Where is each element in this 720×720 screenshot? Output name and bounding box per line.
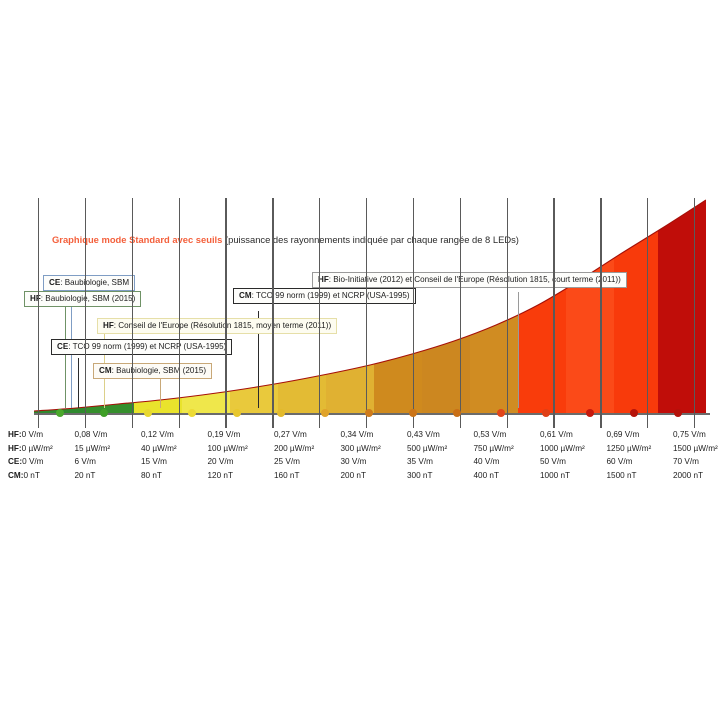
callout-hf-baubiologie[interactable]: HF: Baubiologie, SBM (2015) (24, 291, 141, 307)
gridline (132, 198, 133, 428)
table-cell-cm-flux: 2000 nT (673, 469, 718, 483)
table-cell-ce-field: 60 V/m (607, 455, 652, 469)
led-indicator (497, 409, 505, 417)
led-indicator (277, 409, 285, 417)
table-cell-cm-flux: CM:0 nT (8, 469, 53, 483)
gridline (272, 198, 273, 428)
connector-hf-bio-initiative (518, 292, 519, 408)
gridline (413, 198, 414, 428)
led-indicator (674, 409, 682, 417)
table-column: 0,34 V/m300 µW/m²30 V/m200 nT (341, 428, 381, 482)
table-cell-hf-field: 0,61 V/m (540, 428, 585, 442)
gridline (38, 198, 39, 428)
table-cell-hf-power: 1250 µW/m² (607, 442, 652, 456)
led-indicator (233, 409, 241, 417)
gridline (647, 198, 648, 428)
callout-prefix: CM (239, 291, 252, 300)
table-cell-ce-field: 40 V/m (474, 455, 514, 469)
table-cell-ce-field: 6 V/m (75, 455, 111, 469)
led-indicator (188, 409, 196, 417)
callout-ce-baubiologie[interactable]: CE: Baubiologie, SBM (43, 275, 135, 291)
table-cell-ce-field: 35 V/m (407, 455, 447, 469)
table-cell-hf-power: 1000 µW/m² (540, 442, 585, 456)
table-cell-hf-field: 0,34 V/m (341, 428, 381, 442)
table-column: 0,75 V/m1500 µW/m²70 V/m2000 nT (673, 428, 718, 482)
callout-prefix: CE (49, 278, 60, 287)
table-cell-cm-flux: 1500 nT (607, 469, 652, 483)
table-cell-hf-field: 0,43 V/m (407, 428, 447, 442)
callout-text: : Baubiologie, SBM (2015) (41, 294, 135, 303)
table-cell-hf-power: 200 µW/m² (274, 442, 314, 456)
table-cell-hf-power: 1500 µW/m² (673, 442, 718, 456)
gridline (694, 198, 695, 428)
callout-prefix: CM (99, 366, 112, 375)
table-cell-cm-flux: 400 nT (474, 469, 514, 483)
table-cell-hf-power: 100 µW/m² (208, 442, 248, 456)
led-indicator (453, 409, 461, 417)
table-cell-hf-power: 500 µW/m² (407, 442, 447, 456)
page-title: Graphique mode Standard avec seuils (pui… (52, 234, 519, 245)
chart-canvas: Graphique mode Standard avec seuils (pui… (0, 0, 720, 720)
table-cell-ce-field: 50 V/m (540, 455, 585, 469)
connector-ce-tco99 (78, 358, 79, 408)
led-indicator (56, 409, 64, 417)
led-indicator (321, 409, 329, 417)
callout-hf-bio-initiative[interactable]: HF: Bio-Initiative (2012) et Conseil de … (312, 272, 627, 288)
table-column: 0,08 V/m15 µW/m²6 V/m20 nT (75, 428, 111, 482)
gridline (319, 198, 320, 428)
callout-text: : Bio-Initiative (2012) et Conseil de l'… (329, 275, 621, 284)
table-column: 0,53 V/m750 µW/m²40 V/m400 nT (474, 428, 514, 482)
gridline (179, 198, 180, 428)
callout-prefix: HF (103, 321, 114, 330)
gridline (460, 198, 461, 428)
table-column: 0,69 V/m1250 µW/m²60 V/m1500 nT (607, 428, 652, 482)
table-cell-cm-flux: 160 nT (274, 469, 314, 483)
led-indicator (100, 409, 108, 417)
table-cell-ce-field: CE:0 V/m (8, 455, 53, 469)
table-cell-hf-field: 0,08 V/m (75, 428, 111, 442)
row-label: CE: (8, 457, 22, 466)
gridline (553, 198, 554, 428)
table-cell-hf-power: HF:0 µW/m² (8, 442, 53, 456)
gridline (366, 198, 367, 428)
callout-text: : Baubiologie, SBM (60, 278, 129, 287)
led-indicator (144, 409, 152, 417)
table-cell-hf-power: 750 µW/m² (474, 442, 514, 456)
table-cell-cm-flux: 300 nT (407, 469, 447, 483)
gridline (225, 198, 226, 428)
led-indicator (365, 409, 373, 417)
table-cell-cm-flux: 200 nT (341, 469, 381, 483)
table-cell-hf-field: HF:0 V/m (8, 428, 53, 442)
callout-text: : Conseil de l'Europe (Résolution 1815, … (114, 321, 331, 330)
values-table: HF:0 V/mHF:0 µW/m²CE:0 V/mCM:0 nT0,08 V/… (0, 428, 720, 490)
table-column: 0,61 V/m1000 µW/m²50 V/m1000 nT (540, 428, 585, 482)
connector-hf-baubiologie (65, 304, 66, 408)
row-label: HF: (8, 444, 22, 453)
title-highlight: Graphique mode Standard avec seuils (52, 234, 222, 245)
row-label: CM: (8, 471, 23, 480)
table-cell-hf-power: 300 µW/m² (341, 442, 381, 456)
callout-prefix: CE (57, 342, 68, 351)
title-rest: (puissance des rayonnements indiquée par… (222, 234, 519, 245)
table-cell-ce-field: 70 V/m (673, 455, 718, 469)
led-indicator (630, 409, 638, 417)
table-cell-hf-field: 0,69 V/m (607, 428, 652, 442)
table-cell-ce-field: 15 V/m (141, 455, 177, 469)
table-column: 0,12 V/m40 µW/m²15 V/m80 nT (141, 428, 177, 482)
table-cell-ce-field: 20 V/m (208, 455, 248, 469)
table-cell-ce-field: 30 V/m (341, 455, 381, 469)
table-cell-cm-flux: 120 nT (208, 469, 248, 483)
chart-axis (34, 404, 710, 428)
callout-text: : Baubiologie, SBM (2015) (112, 366, 206, 375)
table-cell-cm-flux: 20 nT (75, 469, 111, 483)
table-cell-hf-power: 15 µW/m² (75, 442, 111, 456)
row-label: HF: (8, 430, 22, 439)
table-cell-hf-field: 0,53 V/m (474, 428, 514, 442)
table-cell-hf-field: 0,12 V/m (141, 428, 177, 442)
table-cell-hf-field: 0,27 V/m (274, 428, 314, 442)
callout-text: : TCO 99 norm (1999) et NCRP (USA-1995) (252, 291, 410, 300)
table-column: HF:0 V/mHF:0 µW/m²CE:0 V/mCM:0 nT (8, 428, 53, 482)
table-cell-hf-field: 0,75 V/m (673, 428, 718, 442)
led-indicator (409, 409, 417, 417)
gridline (85, 198, 86, 428)
gridline (600, 198, 601, 428)
callout-text: : TCO 99 norm (1999) et NCRP (USA-1995) (68, 342, 226, 351)
callout-ce-tco99[interactable]: CE: TCO 99 norm (1999) et NCRP (USA-1995… (51, 339, 232, 355)
table-cell-hf-power: 40 µW/m² (141, 442, 177, 456)
table-cell-ce-field: 25 V/m (274, 455, 314, 469)
callout-cm-tco99[interactable]: CM: TCO 99 norm (1999) et NCRP (USA-1995… (233, 288, 416, 304)
led-indicator (542, 409, 550, 417)
callout-cm-baubiologie[interactable]: CM: Baubiologie, SBM (2015) (93, 363, 212, 379)
table-column: 0,43 V/m500 µW/m²35 V/m300 nT (407, 428, 447, 482)
table-cell-cm-flux: 1000 nT (540, 469, 585, 483)
table-cell-cm-flux: 80 nT (141, 469, 177, 483)
led-indicator (586, 409, 594, 417)
table-column: 0,27 V/m200 µW/m²25 V/m160 nT (274, 428, 314, 482)
gridline (507, 198, 508, 428)
table-column: 0,19 V/m100 µW/m²20 V/m120 nT (208, 428, 248, 482)
table-cell-hf-field: 0,19 V/m (208, 428, 248, 442)
